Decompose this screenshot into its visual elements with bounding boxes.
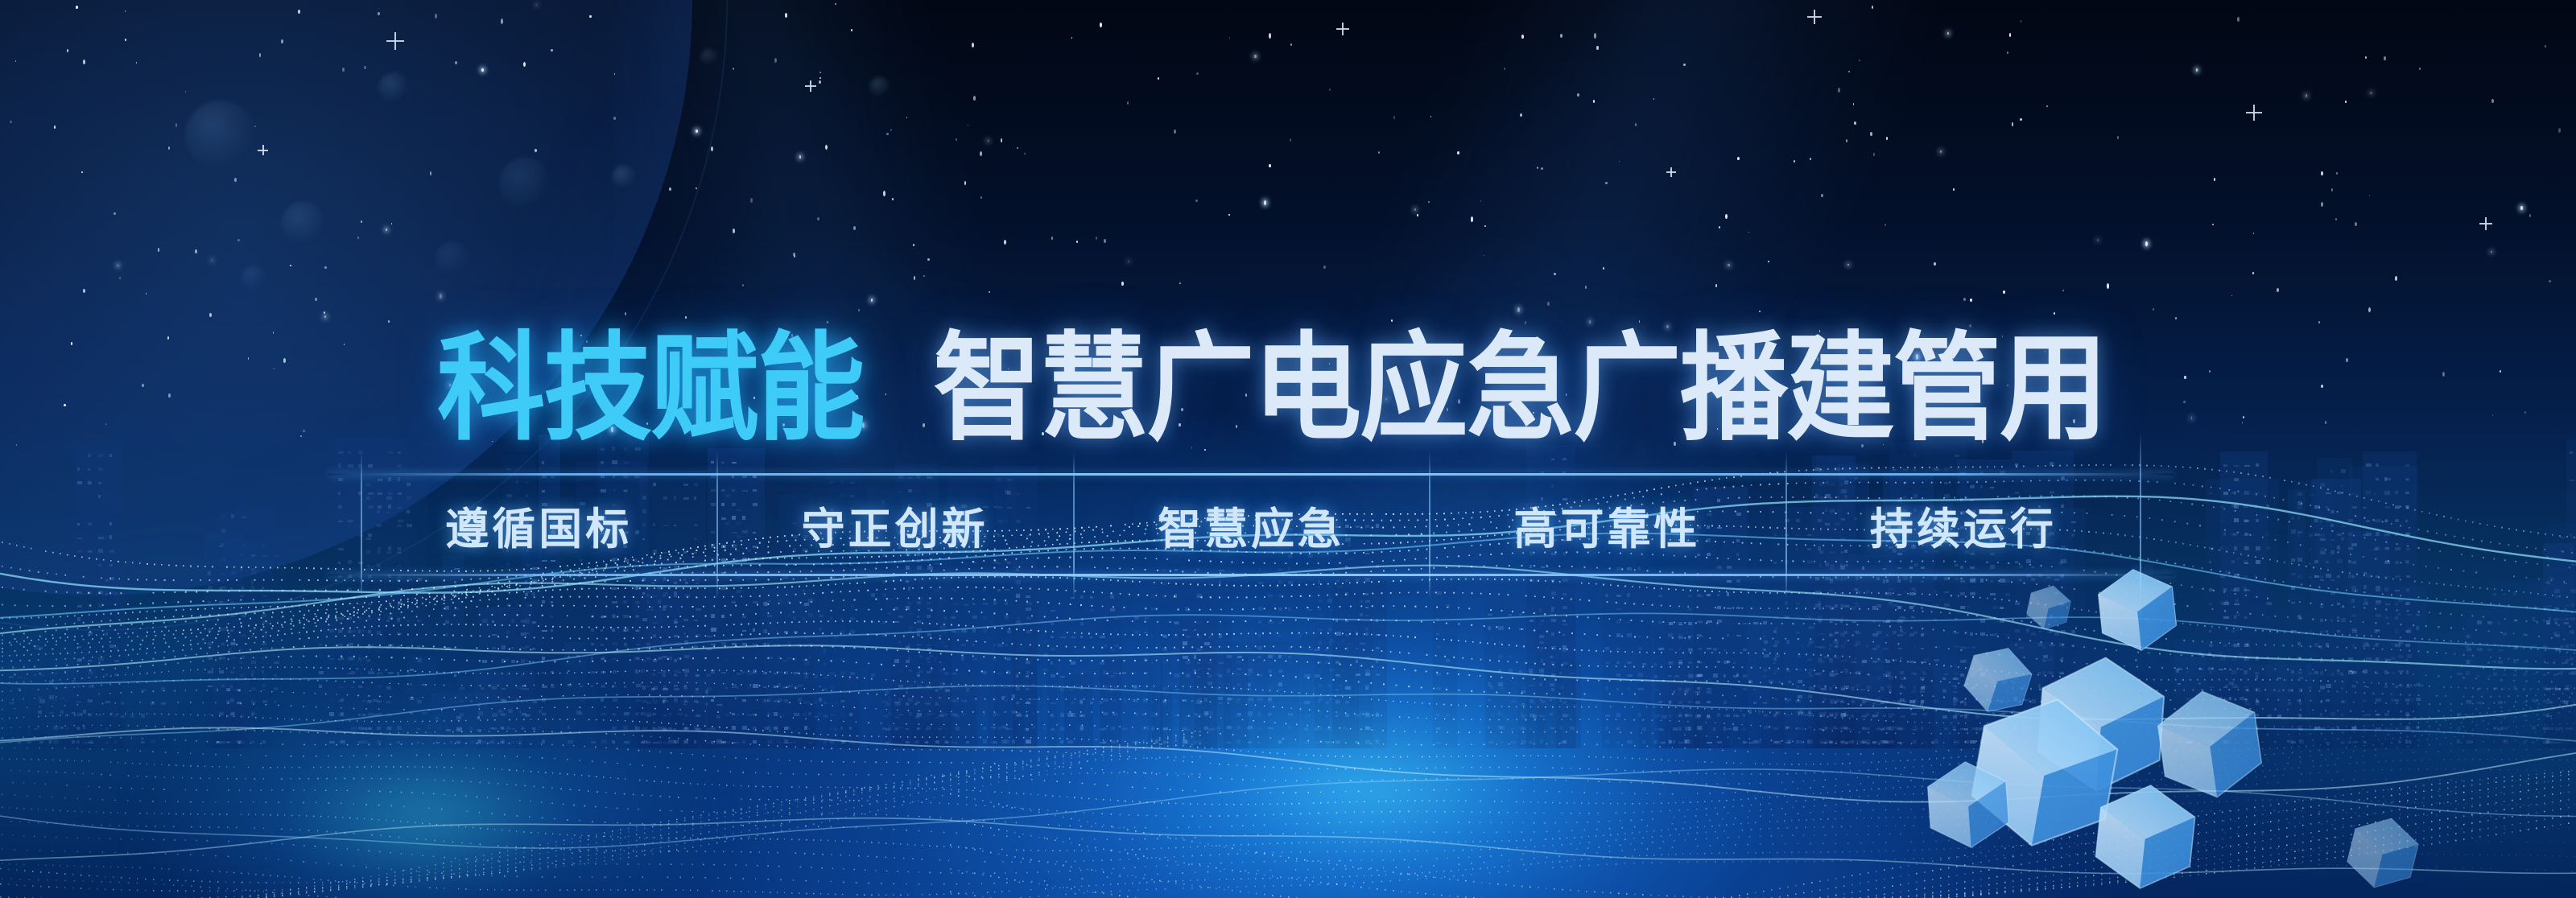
feature-item-label: 高可靠性 xyxy=(1513,504,1700,554)
feature-divider xyxy=(1073,451,1075,599)
feature-item-label: 智慧应急 xyxy=(1158,504,1344,554)
hero-banner: 科技赋能智慧广电应急广播建管用 遵循国标守正创新智慧应急高可靠性持续运行 xyxy=(0,0,2576,898)
feature-divider xyxy=(716,451,718,599)
hexagon-crystal-icon xyxy=(2020,579,2077,636)
feature-item-label: 持续运行 xyxy=(1870,504,2057,554)
feature-list: 遵循国标守正创新智慧应急高可靠性持续运行 xyxy=(361,473,2141,576)
feature-divider-end xyxy=(2140,431,2141,618)
feature-item-1[interactable]: 遵循国标 xyxy=(361,493,716,557)
feature-divider xyxy=(361,451,362,599)
hexagon-crystal-icon xyxy=(2083,775,2207,898)
feature-item-4[interactable]: 高可靠性 xyxy=(1429,493,1785,557)
hexagon-crystal-icon xyxy=(1918,755,2018,855)
feature-divider xyxy=(1429,451,1430,599)
feature-item-5[interactable]: 持续运行 xyxy=(1785,493,2141,557)
page-title-highlight: 科技赋能 xyxy=(437,330,864,447)
feature-item-3[interactable]: 智慧应急 xyxy=(1073,493,1429,557)
hexagon-crystal-icon xyxy=(2336,806,2429,898)
feature-item-label: 遵循国标 xyxy=(445,504,632,554)
feature-divider xyxy=(1785,451,1787,599)
feature-bar: 遵循国标守正创新智慧应急高可靠性持续运行 xyxy=(361,473,2141,576)
page-title-rest: 智慧广电应急广播建管用 xyxy=(933,330,2106,447)
page-title: 科技赋能智慧广电应急广播建管用 xyxy=(0,330,2576,447)
feature-item-label: 守正创新 xyxy=(802,504,989,554)
feature-item-2[interactable]: 守正创新 xyxy=(716,493,1072,557)
